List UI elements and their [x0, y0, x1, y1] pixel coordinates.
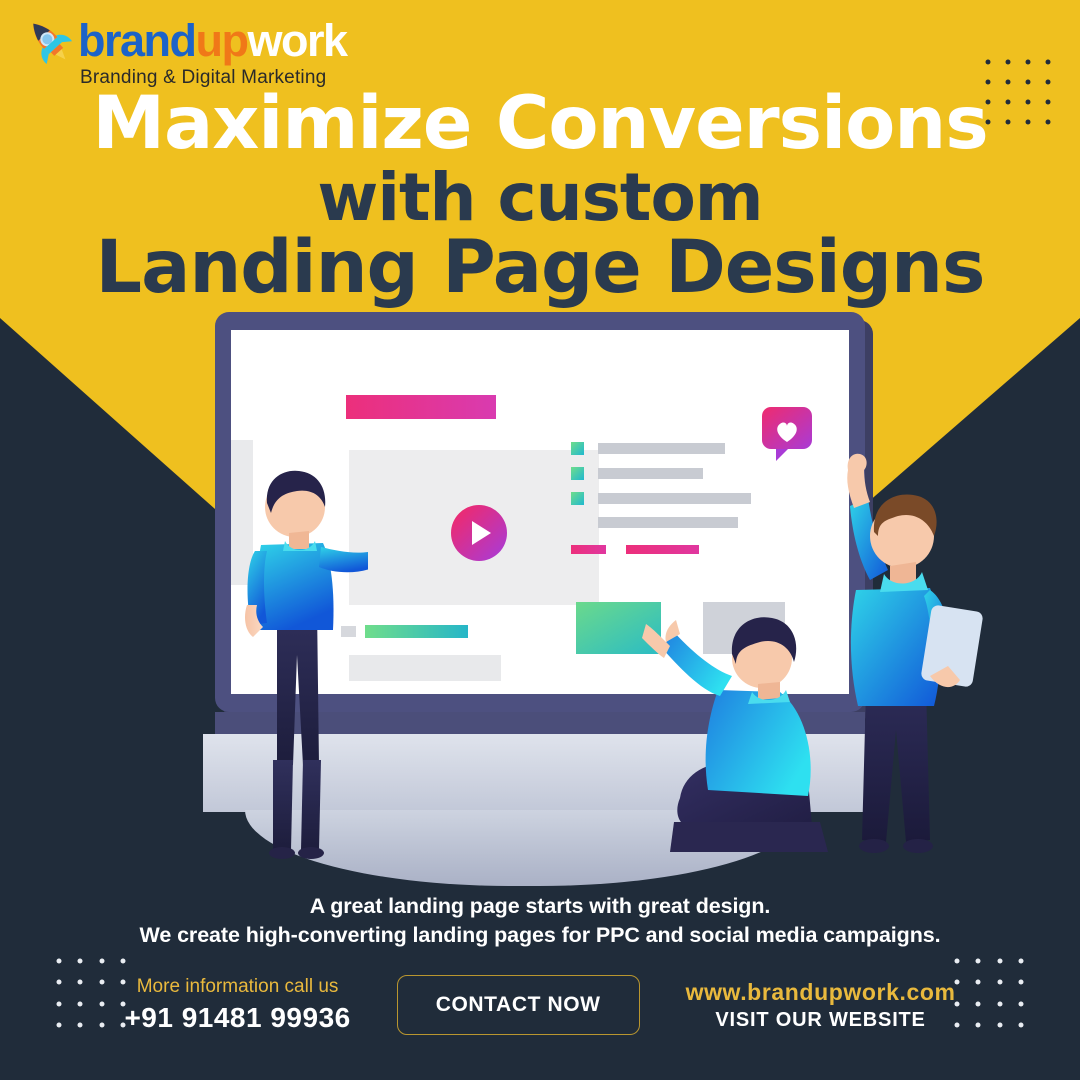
poster-canvas: brandupwork Branding & Digital Marketing…: [0, 0, 1080, 1080]
cta-bar[interactable]: [571, 545, 606, 554]
standing-person-left: [233, 455, 368, 875]
headline-line-1: Maximize Conversions: [0, 88, 1080, 160]
description-line-2: We create high-converting landing pages …: [0, 921, 1080, 950]
headline-line-2: with custom: [0, 166, 1080, 231]
kneeling-person-center: [640, 600, 850, 880]
list-item-text: [598, 468, 703, 479]
standing-person-right: [830, 440, 990, 890]
list-item-text: [598, 517, 738, 528]
bullet-icon: [571, 442, 584, 455]
list-item: [571, 467, 751, 480]
footer-bar: More information call us +91 91481 99936…: [0, 965, 1080, 1045]
logo-word-up: up: [196, 18, 248, 63]
description-line-1: A great landing page starts with great d…: [0, 892, 1080, 921]
screen-grey-block: [349, 655, 501, 681]
list-item: [598, 517, 751, 528]
logo-word-work: work: [248, 18, 347, 63]
brand-logo[interactable]: brandupwork Branding & Digital Marketing: [22, 14, 347, 89]
headline-line-3: Landing Page Designs: [0, 232, 1080, 304]
heart-like-icon: [760, 405, 818, 463]
website-info[interactable]: www.brandupwork.com VISIT OUR WEBSITE: [686, 979, 956, 1032]
website-sublabel: VISIT OUR WEBSITE: [686, 1009, 956, 1032]
call-info: More information call us +91 91481 99936: [124, 976, 350, 1034]
cta-bar[interactable]: [626, 545, 699, 554]
logo-wordmark: brandupwork: [78, 18, 347, 63]
website-url[interactable]: www.brandupwork.com: [686, 979, 956, 1006]
screen-gradient-bar: [365, 625, 468, 638]
screen-heading-bar: [346, 395, 496, 419]
phone-number[interactable]: +91 91481 99936: [124, 1002, 350, 1034]
screen-cta-bars: [571, 545, 699, 554]
logo-row: brandupwork: [22, 14, 347, 66]
call-label: More information call us: [124, 976, 350, 998]
screen-bullet-list: [571, 442, 751, 540]
play-icon[interactable]: [451, 505, 507, 561]
headline-block: Maximize Conversions with custom Landing…: [0, 88, 1080, 304]
list-item-text: [598, 443, 725, 454]
contact-now-button[interactable]: CONTACT NOW: [397, 975, 640, 1035]
rocket-icon: [22, 14, 74, 66]
list-item: [571, 442, 751, 455]
list-item: [571, 492, 751, 505]
logo-word-brand: brand: [78, 18, 196, 63]
bullet-icon: [571, 492, 584, 505]
list-item-text: [598, 493, 751, 504]
description-block: A great landing page starts with great d…: [0, 892, 1080, 950]
bullet-icon: [571, 467, 584, 480]
